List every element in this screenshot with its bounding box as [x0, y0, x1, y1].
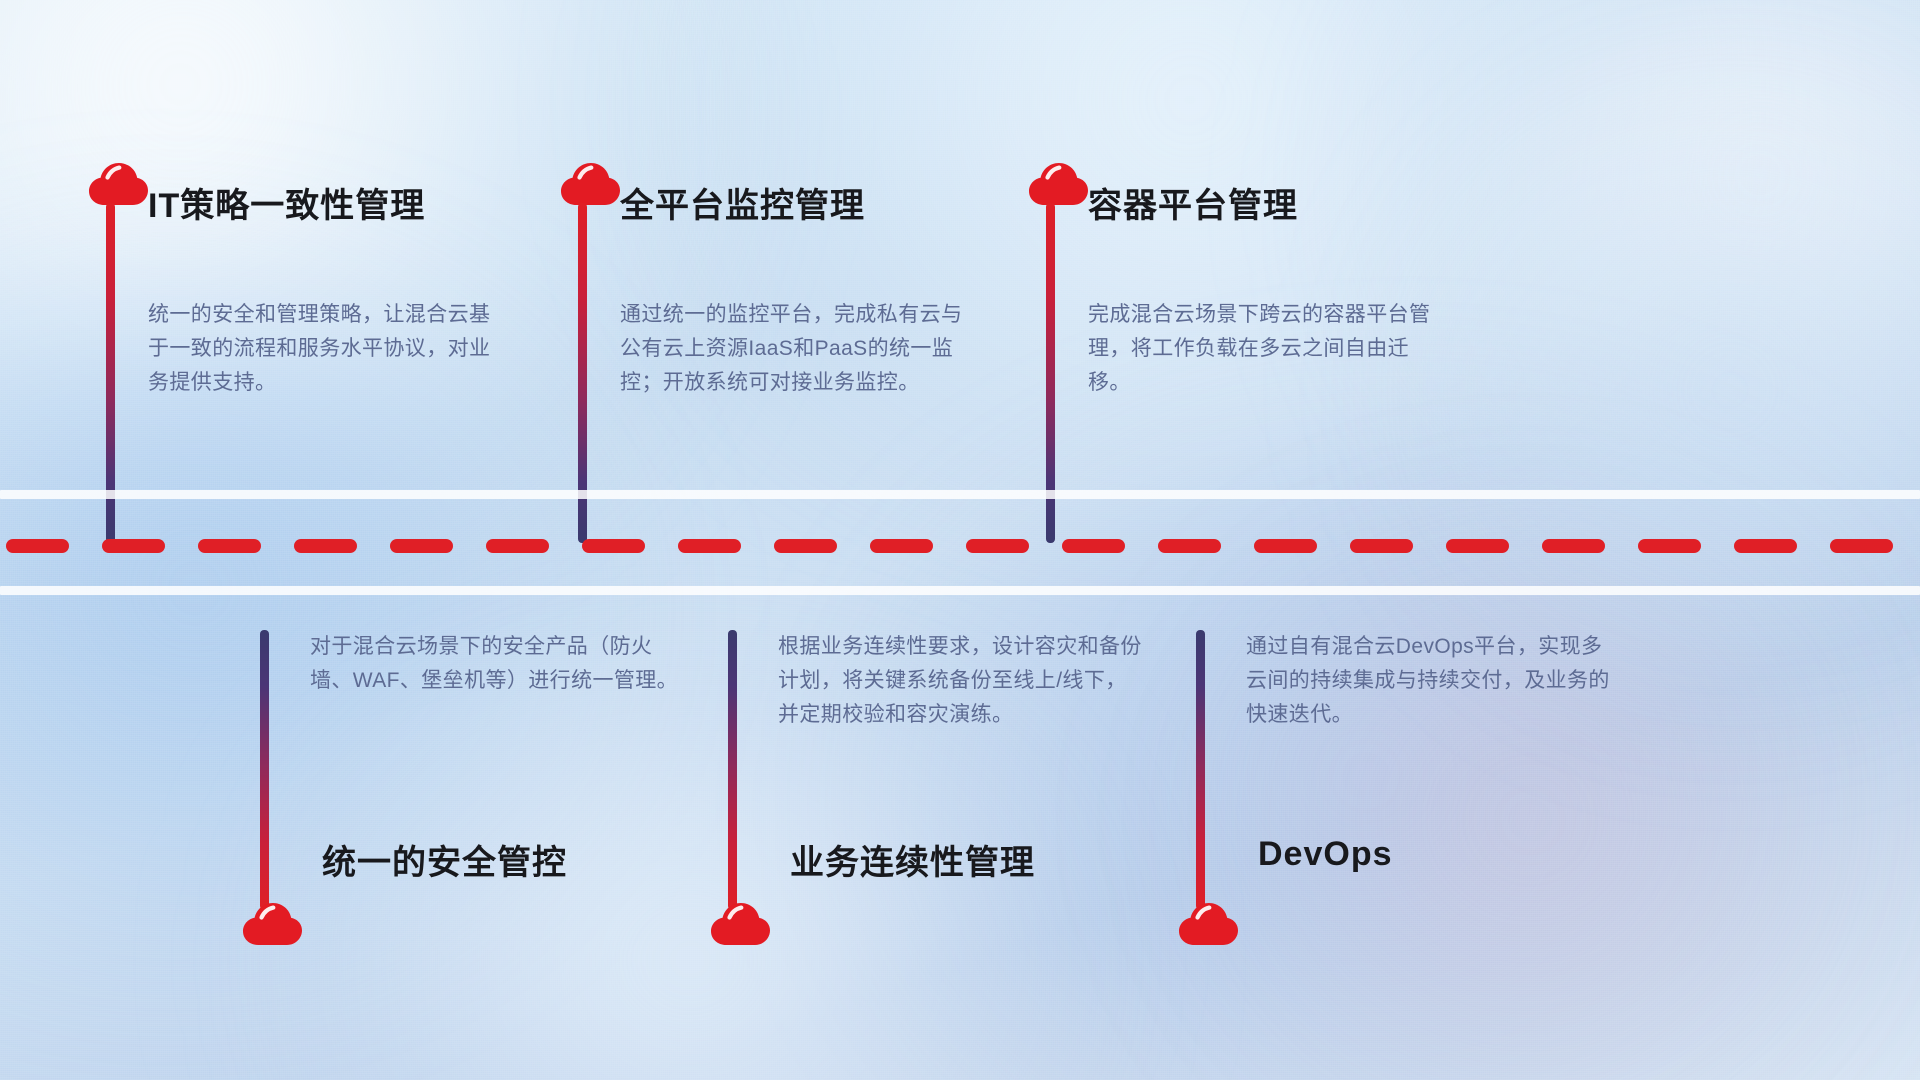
road-dash: [1254, 539, 1317, 553]
column-title: 容器平台管理: [1088, 178, 1298, 227]
road-dash: [102, 539, 165, 553]
road-dash: [1158, 539, 1221, 553]
column-body-text: 对于混合云场景下的安全产品（防火墙、WAF、堡垒机等）进行统一管理。: [310, 630, 680, 698]
road-band-bottom: [0, 586, 1920, 595]
road-dash: [1734, 539, 1797, 553]
road-dash: [1830, 539, 1893, 553]
road-dash: [1542, 539, 1605, 553]
road-dash: [390, 539, 453, 553]
column-title: 全平台监控管理: [620, 178, 865, 227]
column-title: DevOps: [1258, 835, 1393, 874]
connector-stem: [1196, 630, 1205, 910]
road-dashed-line: [0, 539, 1920, 553]
cloud-icon: [87, 160, 149, 206]
column-body-text: 统一的安全和管理策略，让混合云基于一致的流程和服务水平协议，对业务提供支持。: [148, 298, 498, 400]
road-dash: [6, 539, 69, 553]
road-dash: [198, 539, 261, 553]
road-dash: [486, 539, 549, 553]
road-dash: [966, 539, 1029, 553]
cloud-icon: [1177, 900, 1239, 946]
column-body-text: 通过自有混合云DevOps平台，实现多云间的持续集成与持续交付，及业务的快速迭代…: [1246, 630, 1616, 732]
column-body-text: 根据业务连续性要求，设计容灾和备份计划，将关键系统备份至线上/线下，并定期校验和…: [778, 630, 1148, 732]
road-dash: [870, 539, 933, 553]
road-dash: [1350, 539, 1413, 553]
column-title: 业务连续性管理: [790, 835, 1035, 884]
infographic-canvas: IT策略一致性管理 统一的安全和管理策略，让混合云基于一致的流程和服务水平协议，…: [0, 0, 1920, 1080]
column-body-text: 完成混合云场景下跨云的容器平台管理，将工作负载在多云之间自由迁移。: [1088, 298, 1438, 400]
road-dash: [294, 539, 357, 553]
road-dash: [1446, 539, 1509, 553]
road-dash: [1062, 539, 1125, 553]
connector-stem: [260, 630, 269, 910]
road-band-top: [0, 490, 1920, 499]
cloud-icon: [559, 160, 621, 206]
column-body-text: 通过统一的监控平台，完成私有云与公有云上资源IaaS和PaaS的统一监控；开放系…: [620, 298, 970, 400]
road-dash: [774, 539, 837, 553]
road-dash: [678, 539, 741, 553]
connector-stem: [728, 630, 737, 910]
cloud-icon: [1027, 160, 1089, 206]
road-dash: [1638, 539, 1701, 553]
column-title: 统一的安全管控: [322, 835, 567, 884]
road-dash: [582, 539, 645, 553]
cloud-icon: [241, 900, 303, 946]
cloud-icon: [709, 900, 771, 946]
column-title: IT策略一致性管理: [148, 178, 425, 227]
